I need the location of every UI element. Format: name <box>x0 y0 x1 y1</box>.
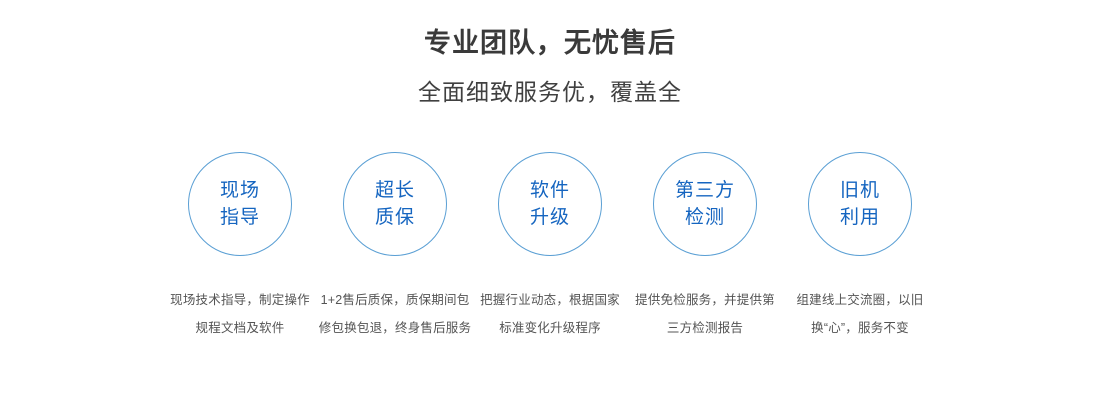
page-subtitle: 全面细致服务优，覆盖全 <box>0 60 1100 107</box>
caption-line-1: 提供免检服务，并提供第 <box>628 286 783 314</box>
feature-caption-software-upgrade: 把握行业动态，根据国家 标准变化升级程序 <box>473 286 628 342</box>
caption-line-2: 换“心”，服务不变 <box>783 314 938 342</box>
caption-line-2: 标准变化升级程序 <box>473 314 628 342</box>
caption-line-1: 组建线上交流圈，以旧 <box>783 286 938 314</box>
caption-line-2: 规程文档及软件 <box>163 314 318 342</box>
feature-circle[interactable]: 软件 升级 <box>498 152 602 256</box>
caption-line-1: 1+2售后质保，质保期间包 <box>318 286 473 314</box>
feature-caption-onsite-guidance: 现场技术指导，制定操作 规程文档及软件 <box>163 286 318 342</box>
feature-circle-line-2: 检测 <box>685 204 725 231</box>
feature-circle-line-2: 质保 <box>375 204 415 231</box>
feature-circle-line-2: 利用 <box>840 204 880 231</box>
feature-caption-old-machine-reuse: 组建线上交流圈，以旧 换“心”，服务不变 <box>783 286 938 342</box>
page-title: 专业团队，无忧售后 <box>0 0 1100 60</box>
feature-circle-line-1: 现场 <box>220 177 260 204</box>
feature-captions-row: 现场技术指导，制定操作 规程文档及软件 1+2售后质保，质保期间包 修包换包退，… <box>0 286 1100 342</box>
feature-circle-line-2: 升级 <box>530 204 570 231</box>
feature-circle[interactable]: 第三方 检测 <box>653 152 757 256</box>
feature-item-third-party-testing[interactable]: 第三方 检测 <box>653 152 757 256</box>
service-features-section: 专业团队，无忧售后 全面细致服务优，覆盖全 现场 指导 超长 质保 软件 升级 … <box>0 0 1100 404</box>
feature-circle-line-1: 超长 <box>375 177 415 204</box>
feature-circle[interactable]: 超长 质保 <box>343 152 447 256</box>
feature-circle-line-2: 指导 <box>220 204 260 231</box>
feature-caption-third-party-testing: 提供免检服务，并提供第 三方检测报告 <box>628 286 783 342</box>
feature-circle[interactable]: 旧机 利用 <box>808 152 912 256</box>
heading-block: 专业团队，无忧售后 全面细致服务优，覆盖全 <box>0 0 1100 107</box>
caption-line-2: 修包换包退，终身售后服务 <box>318 314 473 342</box>
feature-item-onsite-guidance[interactable]: 现场 指导 <box>188 152 292 256</box>
feature-circle-line-1: 旧机 <box>840 177 880 204</box>
feature-circle[interactable]: 现场 指导 <box>188 152 292 256</box>
feature-item-software-upgrade[interactable]: 软件 升级 <box>498 152 602 256</box>
caption-line-2: 三方检测报告 <box>628 314 783 342</box>
feature-item-extended-warranty[interactable]: 超长 质保 <box>343 152 447 256</box>
caption-line-1: 把握行业动态，根据国家 <box>473 286 628 314</box>
feature-circle-line-1: 软件 <box>530 177 570 204</box>
feature-circle-line-1: 第三方 <box>675 177 735 204</box>
caption-line-1: 现场技术指导，制定操作 <box>163 286 318 314</box>
feature-item-old-machine-reuse[interactable]: 旧机 利用 <box>808 152 912 256</box>
feature-circles-row: 现场 指导 超长 质保 软件 升级 第三方 检测 旧机 <box>0 152 1100 256</box>
feature-caption-extended-warranty: 1+2售后质保，质保期间包 修包换包退，终身售后服务 <box>318 286 473 342</box>
